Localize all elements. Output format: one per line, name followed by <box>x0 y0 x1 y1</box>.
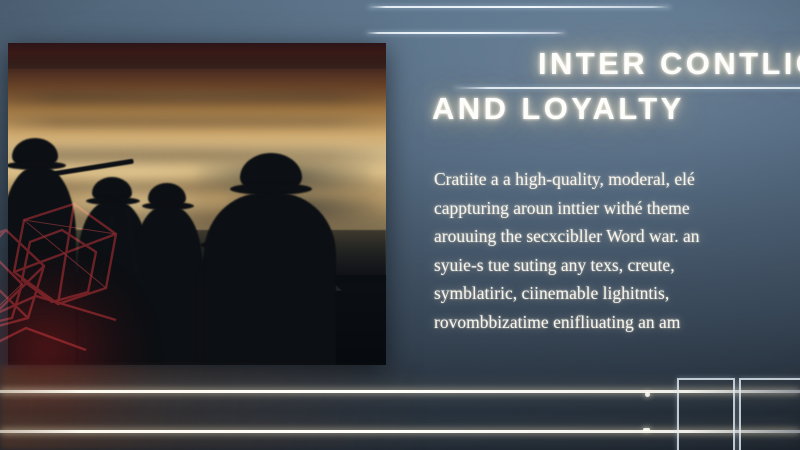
title-divider-rule <box>454 87 800 89</box>
bottom-right-frame-left <box>677 378 735 450</box>
title-line-2: AND LOYALTY <box>418 91 800 127</box>
body-line: arouuing the secxcibller Word war. an <box>434 222 800 251</box>
soldiers-silhouette-sunset-photo <box>8 43 386 365</box>
slide-body-text: Cratiite a a high-quality, moderal, elé … <box>434 165 800 336</box>
cloud-band <box>8 147 386 163</box>
slide-canvas: INTER CONTLIC AND LOYALTY Cratiite a a h… <box>0 0 800 450</box>
cloud-band <box>8 91 386 104</box>
soldier-body <box>204 193 336 365</box>
body-line: Cratiite a a high-quality, moderal, elé <box>434 165 800 194</box>
top-rule-secondary <box>366 32 566 34</box>
slide-title: INTER CONTLIC AND LOYALTY <box>418 46 800 127</box>
body-line: roᴠombbizatime enifliuating an am <box>434 308 800 337</box>
photo-top-shadow-bar <box>8 43 386 69</box>
body-line: syuie-s tue suting any texs, creute, <box>434 251 800 280</box>
body-line: symblatiric, ciinemable lighitntis, <box>434 279 800 308</box>
light-spark-icon <box>645 392 650 397</box>
light-spark-icon <box>643 428 650 431</box>
soldier-body <box>8 167 76 365</box>
bottom-right-frame-right <box>739 378 800 450</box>
cloud-band <box>8 117 386 127</box>
body-line: cappturing aroun inttier withé theme <box>434 194 800 223</box>
top-rule-primary <box>368 6 671 8</box>
soldier-body <box>134 206 202 365</box>
title-line-1: INTER CONTLIC <box>418 46 800 82</box>
